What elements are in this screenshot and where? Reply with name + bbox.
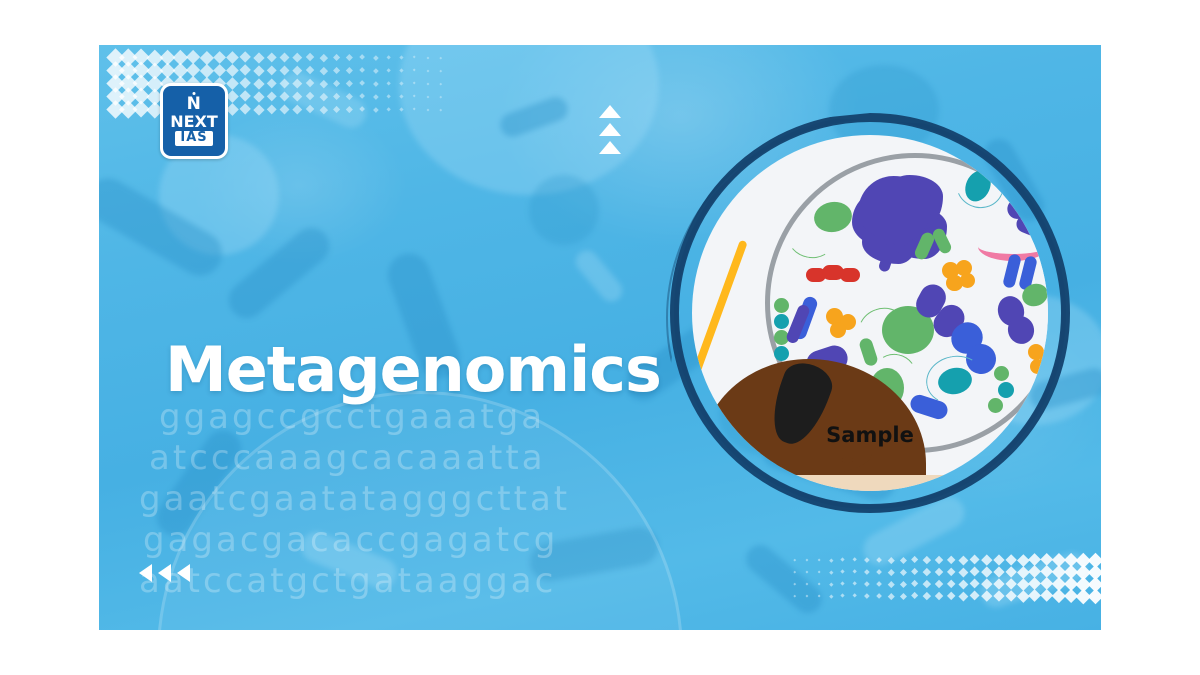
halftone-diamond [280,92,290,102]
microbe-teal-chain-6 [998,382,1014,398]
halftone-diamond [900,581,907,588]
halftone-diamond [794,559,796,561]
halftone-diamond [946,579,955,588]
halftone-diamond [413,56,416,59]
logo-letter-n: N [187,96,202,113]
halftone-diamond [806,595,809,598]
halftone-diamond [386,68,391,73]
halftone-diamond [841,570,845,574]
halftone-diamond [888,581,894,587]
halftone-diamond [864,593,869,598]
halftone-diamond [333,80,340,87]
halftone-diamond [900,557,907,564]
halftone-diamond [373,55,378,60]
halftone-diamond [240,78,252,90]
halftone-diamond [320,67,328,75]
halftone-diamond [970,579,980,589]
shovel-handle [692,240,748,382]
microbe-orange-cluster-j [1030,359,1045,374]
halftone-diamond [280,105,290,115]
halftone-diamond [253,91,264,102]
halftone-diamond [439,56,441,58]
halftone-diamond [266,78,277,89]
halftone-diamond [333,93,340,100]
halftone-diamond [853,558,858,563]
halftone-diamond [226,90,239,103]
microbe-green-chain-5 [994,366,1009,381]
halftone-diamond [935,580,944,589]
halftone-diamond [1005,590,1017,602]
halftone-diamond [911,568,918,575]
halftone-diamond [240,65,252,77]
halftone-diamond [346,106,353,113]
halftone-diamond [280,66,290,76]
halftone-diamond [426,56,429,59]
soil-crumb [738,460,747,465]
halftone-diamond [413,108,416,111]
halftone-diamond [982,591,993,602]
halftone-diamond [1005,554,1017,566]
halftone-diamond [864,557,869,562]
halftone-diamond [794,571,796,573]
halftone-diamond [817,594,820,597]
halftone-diamond [853,594,858,599]
halftone-diamond [841,582,845,586]
halftone-diamond [386,55,391,60]
halftone-diamond [306,53,315,62]
halftone-diamond [226,103,239,116]
soil-crumb [842,457,853,463]
halftone-row [789,566,1101,578]
halftone-diamond [935,592,944,601]
halftone-diamond [399,68,403,72]
microbe-purple-amoeba [858,176,932,242]
halftone-diamond [413,95,416,98]
halftone-diamond [293,105,302,114]
halftone-diamond [213,64,226,77]
triangle-up-icon [599,141,621,154]
halftone-diamond [935,556,944,565]
halftone-diamond [359,54,365,60]
halftone-diamond [306,105,315,114]
halftone-diamond [306,66,315,75]
halftone-diamond [266,52,277,63]
microbe-green-chain-1 [774,298,789,313]
halftone-row [109,51,447,64]
halftone-diamond [853,582,858,587]
halftone-diamond [958,591,968,601]
halftone-diamond [200,64,214,78]
halftone-diamond [333,67,340,74]
halftone-diamond [399,81,403,85]
halftone-diamond [982,555,993,566]
halftone-diamond [888,557,894,563]
halftone-diamond [439,95,441,97]
halftone-diamond [320,106,328,114]
halftone-diamond [829,582,833,586]
halftone-diamond [320,80,328,88]
halftone-diamond [280,53,290,63]
halftone-diamond [841,558,845,562]
halftone-diamond [923,568,931,576]
halftone-diamond [240,52,252,64]
halftone-diamond [373,68,378,73]
halftone-diamond [993,566,1004,577]
halftone-diamond [923,556,931,564]
halftone-diamond [373,107,378,112]
halftone-diamond [266,65,277,76]
triangle-up-group [599,105,621,154]
halftone-row [789,590,1101,602]
slide-canvas: ggagccgcctgaaatgaatcccaaagcacaaattagaatc… [0,0,1200,675]
halftone-diamond [1005,578,1017,590]
halftone-diamond [346,67,353,74]
halftone-diamond [864,581,869,586]
halftone-diamond [399,107,403,111]
halftone-diamond [413,69,416,72]
halftone-diamond [1017,578,1029,590]
halftone-diamond [359,106,365,112]
halftone-diamond [359,93,365,99]
halftone-diamond [373,94,378,99]
halftone-diamond [426,108,429,111]
halftone-diamond [359,80,365,86]
microbe-orange-cluster-g [830,322,846,338]
halftone-diamond [946,555,955,564]
halftone-diamond [970,591,980,601]
halftone-diamond [993,590,1004,601]
halftone-diamond [266,91,277,102]
halftone-diamond [359,67,365,73]
halftone-diamond [240,91,252,103]
halftone-diamond [970,567,980,577]
triangle-left-group [139,564,190,582]
halftone-diamond [888,593,894,599]
halftone-diamond [226,51,239,64]
triangle-left-icon [158,564,171,582]
halftone-diamond [806,559,809,562]
halftone-diamond [386,107,391,112]
halftone-diamond [240,104,252,116]
halftone-diamond [213,51,226,64]
halftone-diamond [253,52,264,63]
halftone-diamond [386,94,391,99]
microbe-red-cocci-3 [840,268,860,282]
halftone-diamond [333,54,340,61]
microbe-teal-chain-2 [774,314,789,329]
next-ias-logo[interactable]: N NEXT IAS [160,83,228,159]
halftone-diamond [970,555,980,565]
halftone-diamond [946,591,955,600]
halftone-diamond [1017,590,1029,602]
halftone-diamond [306,92,315,101]
logo-word-ias: IAS [175,131,212,147]
microbe-green-rod-2 [931,227,953,256]
halftone-diamond [266,104,277,115]
halftone-diamond [293,79,302,88]
halftone-diamond [993,554,1004,565]
halftone-diamond [817,582,820,585]
halftone-diamond [293,92,302,101]
halftone-diamond [900,569,907,576]
halftone-diamond [876,569,882,575]
halftone-diamond [876,593,882,599]
halftone-diamond [1017,554,1029,566]
halftone-diamond [829,570,833,574]
halftone-diamond [426,69,429,72]
logo-dot-icon [192,92,195,95]
halftone-diamond [439,69,441,71]
halftone-diamond [399,55,403,59]
tan-band [692,475,1048,491]
halftone-diamond [426,82,429,85]
halftone-diamond [280,79,290,89]
halftone-diamond [958,555,968,565]
triangle-up-icon [599,105,621,118]
halftone-diamond [426,95,429,98]
halftone-diamond [829,558,833,562]
soil-crumb [768,464,781,471]
halftone-diamond [806,583,809,586]
halftone-row [789,578,1101,590]
triangle-left-icon [139,564,152,582]
halftone-diamond [935,568,944,577]
halftone-diamond [794,595,796,597]
halftone-row [109,64,447,77]
sample-caption: Sample [692,423,1048,447]
soil-crumb [716,467,728,473]
halftone-diamond [817,570,820,573]
halftone-diamond [841,594,845,598]
halftone-diamond [439,82,441,84]
halftone-diamond [1005,566,1017,578]
halftone-diamond [306,79,315,88]
halftone-diamond [413,82,416,85]
halftone-diamond [864,569,869,574]
halftone-diamond [200,51,214,65]
halftone-diamond [253,104,264,115]
halftone-diamond [293,66,302,75]
halftone-diamond [399,94,403,98]
halftone-row [109,77,447,90]
halftone-diamond [373,81,378,86]
halftone-diamond [1087,588,1101,604]
halftone-diamond [958,579,968,589]
microbe-green-chain-7 [988,398,1003,413]
page-title: Metagenomics [165,333,661,406]
halftone-diamond [853,570,858,575]
halftone-diamond [439,108,441,110]
microbe-teal-chain-4 [774,346,789,361]
halftone-diamond [320,54,328,62]
banner: ggagccgcctgaaatgaatcccaaagcacaaattagaatc… [99,45,1101,630]
halftone-diamond [982,579,993,590]
triangle-up-icon [599,123,621,136]
halftone-diamond [911,592,918,599]
halftone-bottom-right [789,554,1101,602]
halftone-diamond [923,592,931,600]
halftone-diamond [923,580,931,588]
halftone-diamond [794,583,796,585]
white-disc: Sample [692,135,1048,491]
halftone-diamond [333,106,340,113]
petri-dish-illustration: Sample [670,113,1070,513]
halftone-diamond [993,578,1004,589]
halftone-diamond [346,93,353,100]
halftone-diamond [320,93,328,101]
halftone-diamond [293,53,302,62]
halftone-diamond [346,80,353,87]
halftone-diamond [982,567,993,578]
halftone-diamond [386,81,391,86]
halftone-diamond [900,593,907,600]
halftone-diamond [911,556,918,563]
halftone-diamond [226,64,239,77]
microbe-orange-cluster-d [960,273,975,288]
halftone-diamond [888,569,894,575]
halftone-diamond [253,65,264,76]
halftone-row [789,554,1101,566]
halftone-diamond [1017,566,1029,578]
logo-word-next: NEXT [170,114,218,130]
halftone-diamond [958,567,968,577]
triangle-left-icon [177,564,190,582]
halftone-diamond [946,567,955,576]
microbe-purple-rod [878,241,898,273]
halftone-diamond [829,594,833,598]
halftone-diamond [806,571,809,574]
halftone-diamond [253,78,264,89]
halftone-diamond [226,77,239,90]
halftone-diamond [876,557,882,563]
halftone-diamond [911,580,918,587]
halftone-diamond [346,54,353,61]
halftone-diamond [817,558,820,561]
halftone-diamond [876,581,882,587]
